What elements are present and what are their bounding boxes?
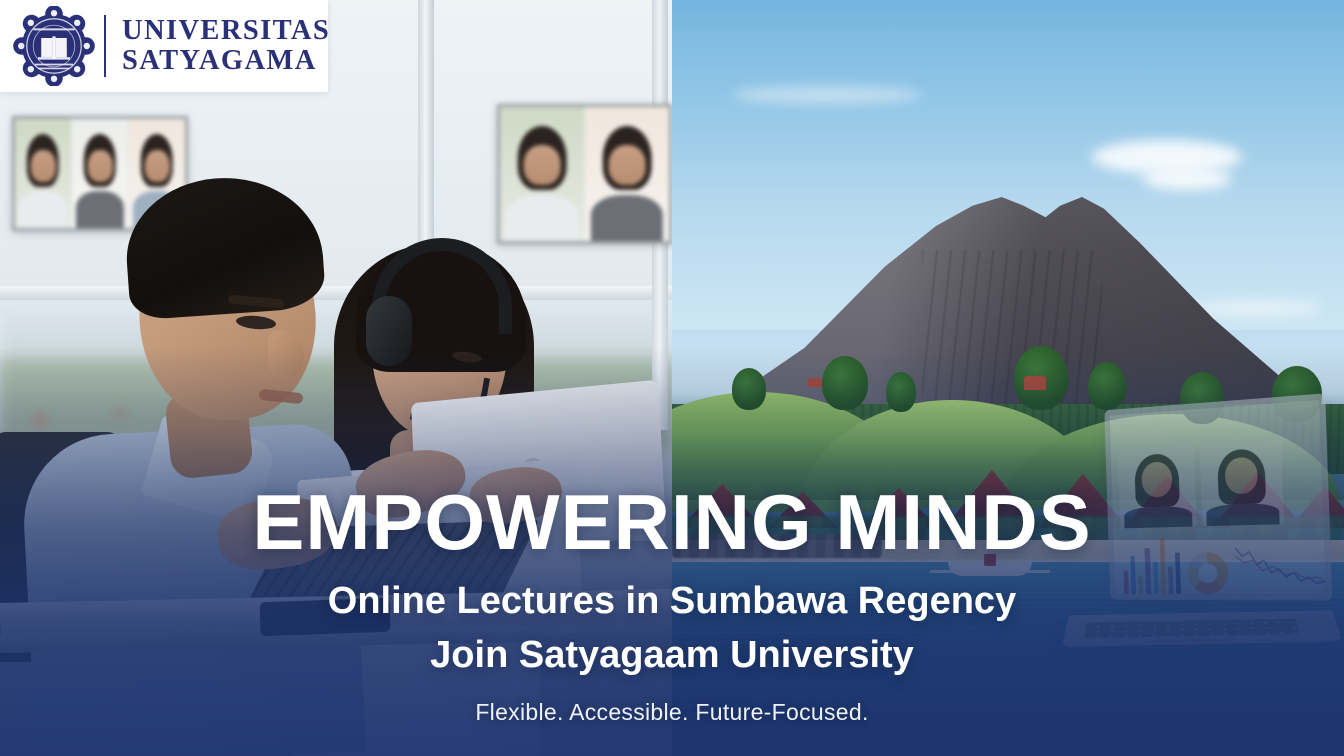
donut-chart	[1187, 552, 1229, 594]
bar-chart-bar	[1130, 556, 1136, 594]
bar-chart-bar	[1175, 553, 1181, 594]
logo-line-2: SATYAGAMA	[122, 46, 330, 76]
bar-chart-bar	[1159, 539, 1166, 594]
video-call-tile	[1200, 440, 1284, 526]
bar-chart	[1123, 539, 1181, 594]
tree	[732, 368, 766, 410]
hilltop-house	[808, 378, 822, 387]
bar-chart-bar	[1145, 548, 1151, 594]
tree	[886, 372, 916, 412]
participant-torso	[1123, 505, 1192, 528]
participant-hair	[84, 134, 116, 186]
logo-wordmark: UNIVERSITAS SATYAGAMA	[122, 16, 330, 75]
cloud	[732, 86, 922, 104]
laptop-screen	[1104, 393, 1332, 600]
window-sill	[0, 286, 672, 300]
participant-hair	[141, 134, 173, 186]
logo-line-1: UNIVERSITAS	[122, 16, 330, 46]
bar-chart-bar	[1153, 562, 1159, 594]
tree	[822, 356, 868, 410]
cloud	[1142, 168, 1232, 190]
left-photo-online-class	[0, 0, 672, 756]
video-call-screen	[497, 104, 672, 244]
participant-torso	[76, 191, 124, 228]
dashboard-charts	[1122, 529, 1327, 594]
participant-torso	[506, 195, 578, 241]
promotional-banner: UNIVERSITAS SATYAGAMA EMPOWERING MINDS O…	[0, 0, 1344, 756]
man-nose	[268, 330, 304, 378]
line-chart-path	[1235, 540, 1328, 594]
participant-torso	[19, 191, 67, 228]
video-call-grid	[1118, 440, 1284, 529]
laptop-base	[1062, 610, 1343, 647]
video-call-tile	[500, 107, 585, 241]
line-chart	[1235, 540, 1328, 594]
laptop-trackpad	[1155, 637, 1233, 643]
bar-chart-bar	[1168, 566, 1174, 594]
headset-earcup	[366, 296, 412, 366]
logo-divider	[104, 15, 106, 77]
university-logo-lockup[interactable]: UNIVERSITAS SATYAGAMA	[0, 0, 328, 92]
video-call-tile	[15, 119, 72, 228]
hilltop-house	[1024, 376, 1046, 390]
smartphone	[259, 598, 390, 637]
bar-chart-bar	[1124, 571, 1129, 594]
participant-hair	[518, 126, 567, 190]
video-call-tile	[72, 119, 129, 228]
participant-torso	[591, 195, 663, 241]
shoreline-rocks	[672, 534, 882, 558]
outrigger-boat	[930, 548, 1050, 580]
bar-chart-bar	[1138, 575, 1143, 593]
video-call-tile	[1118, 445, 1197, 528]
participant-torso	[1206, 502, 1280, 526]
boat-flag	[984, 554, 996, 566]
cloud	[1192, 300, 1322, 316]
video-call-tile	[585, 107, 669, 241]
participant-hair	[603, 126, 652, 190]
university-crest-emblem	[12, 6, 96, 86]
laptop-keyboard	[1084, 618, 1300, 638]
participant-hair	[27, 134, 59, 186]
laptop-overlay-graphic	[1080, 392, 1344, 682]
